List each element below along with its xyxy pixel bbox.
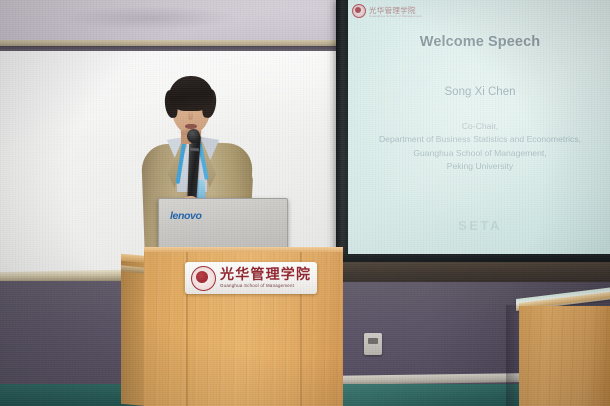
photograph-scene: 光华管理学院 Guanghua School of Management Wel… [0,0,610,406]
wall-smudge [60,6,240,30]
speaker-nose [188,110,193,120]
podium-plaque-text: 光华管理学院 Guanghua School of Management [220,268,311,289]
slide-affiliation-line: Guanghua School of Management, [330,147,610,160]
wall-outlet-plate [364,333,382,355]
slide-affiliation-line: Peking University [330,160,610,173]
slide-affiliation-block: Co-Chair, Department of Business Statist… [330,120,610,174]
podium-plaque-english: Guanghua School of Management [220,284,311,288]
slide-affiliation-line: Co-Chair, [330,120,610,133]
lenovo-logo: lenovo [170,210,201,222]
peking-university-seal-icon [191,266,216,291]
speaker-hair [169,76,213,111]
slide-affiliation-line: Department of Business Statistics and Ec… [330,133,610,146]
slide-header-logo: 光华管理学院 Guanghua School of Management [352,3,420,19]
lenovo-logo-suffix: vo [190,210,201,222]
microphone-band [190,148,199,151]
slide-title: Welcome Speech [348,34,610,50]
wall-outlet-socket-icon [368,338,378,344]
podium-plaque-chinese: 光华管理学院 [220,268,311,282]
laptop-lid [158,198,288,253]
side-desk-wood-grain [519,306,610,406]
screen-under-shadow [340,262,610,282]
slide-watermark: SETA [348,218,610,233]
lenovo-logo-prefix: leno [170,210,190,222]
podium-left-side [121,257,146,406]
peking-university-seal-icon [352,4,366,18]
slide-speaker-name: Song Xi Chen [348,86,610,98]
slide-logo-english-text: Guanghua School of Management [369,14,422,18]
podium-plaque: 光华管理学院 Guanghua School of Management [185,262,317,294]
